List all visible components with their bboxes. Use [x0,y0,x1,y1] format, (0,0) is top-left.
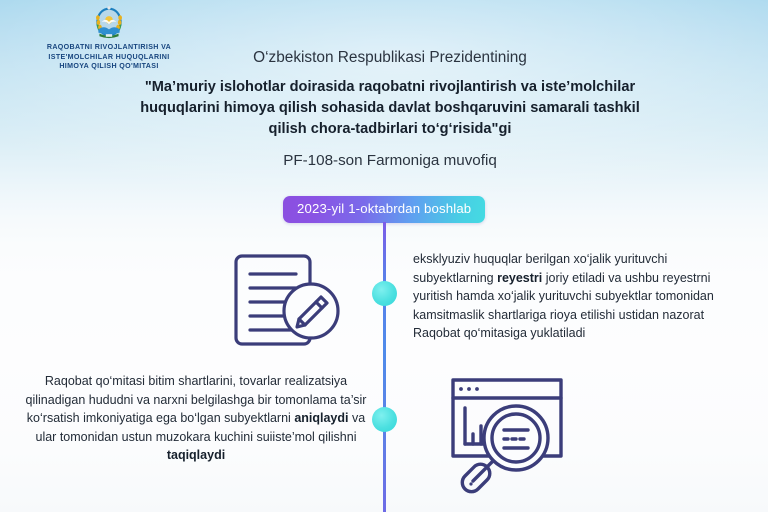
decree-title: "Ma’muriy islohotlar doirasida raqobatni… [130,77,650,140]
timeline-item-text-right: eksklyuziv huquqlar berilgan xo‘jalik yu… [413,250,751,343]
preamble-text: O‘zbekiston Respublikasi Prezidentining [110,48,670,68]
emphasis-text: aniqlaydi [294,411,348,425]
effective-date-badge: 2023-yil 1-oktabrdan boshlab [283,196,485,223]
header-block: O‘zbekiston Respublikasi Prezidentining … [110,48,670,171]
timeline-item-text-left: Raqobat qo‘mitasi bitim shartlarini, tov… [22,372,370,465]
decree-number: PF-108-son Farmoniga muvofiq [110,151,670,171]
timeline-dot [372,281,397,306]
document-with-pencil-icon [228,248,346,352]
uzbekistan-state-emblem-icon [92,6,126,40]
infographic-canvas: RAQOBATNI RIVOJLANTIRISH VA ISTE'MOLCHIL… [0,0,768,512]
timeline-connector [383,222,386,512]
chart-magnifier-icon [447,372,579,498]
emphasis-text: taqiqlaydi [167,448,225,462]
emphasis-text: reyestri [497,271,542,285]
timeline-dot [372,407,397,432]
